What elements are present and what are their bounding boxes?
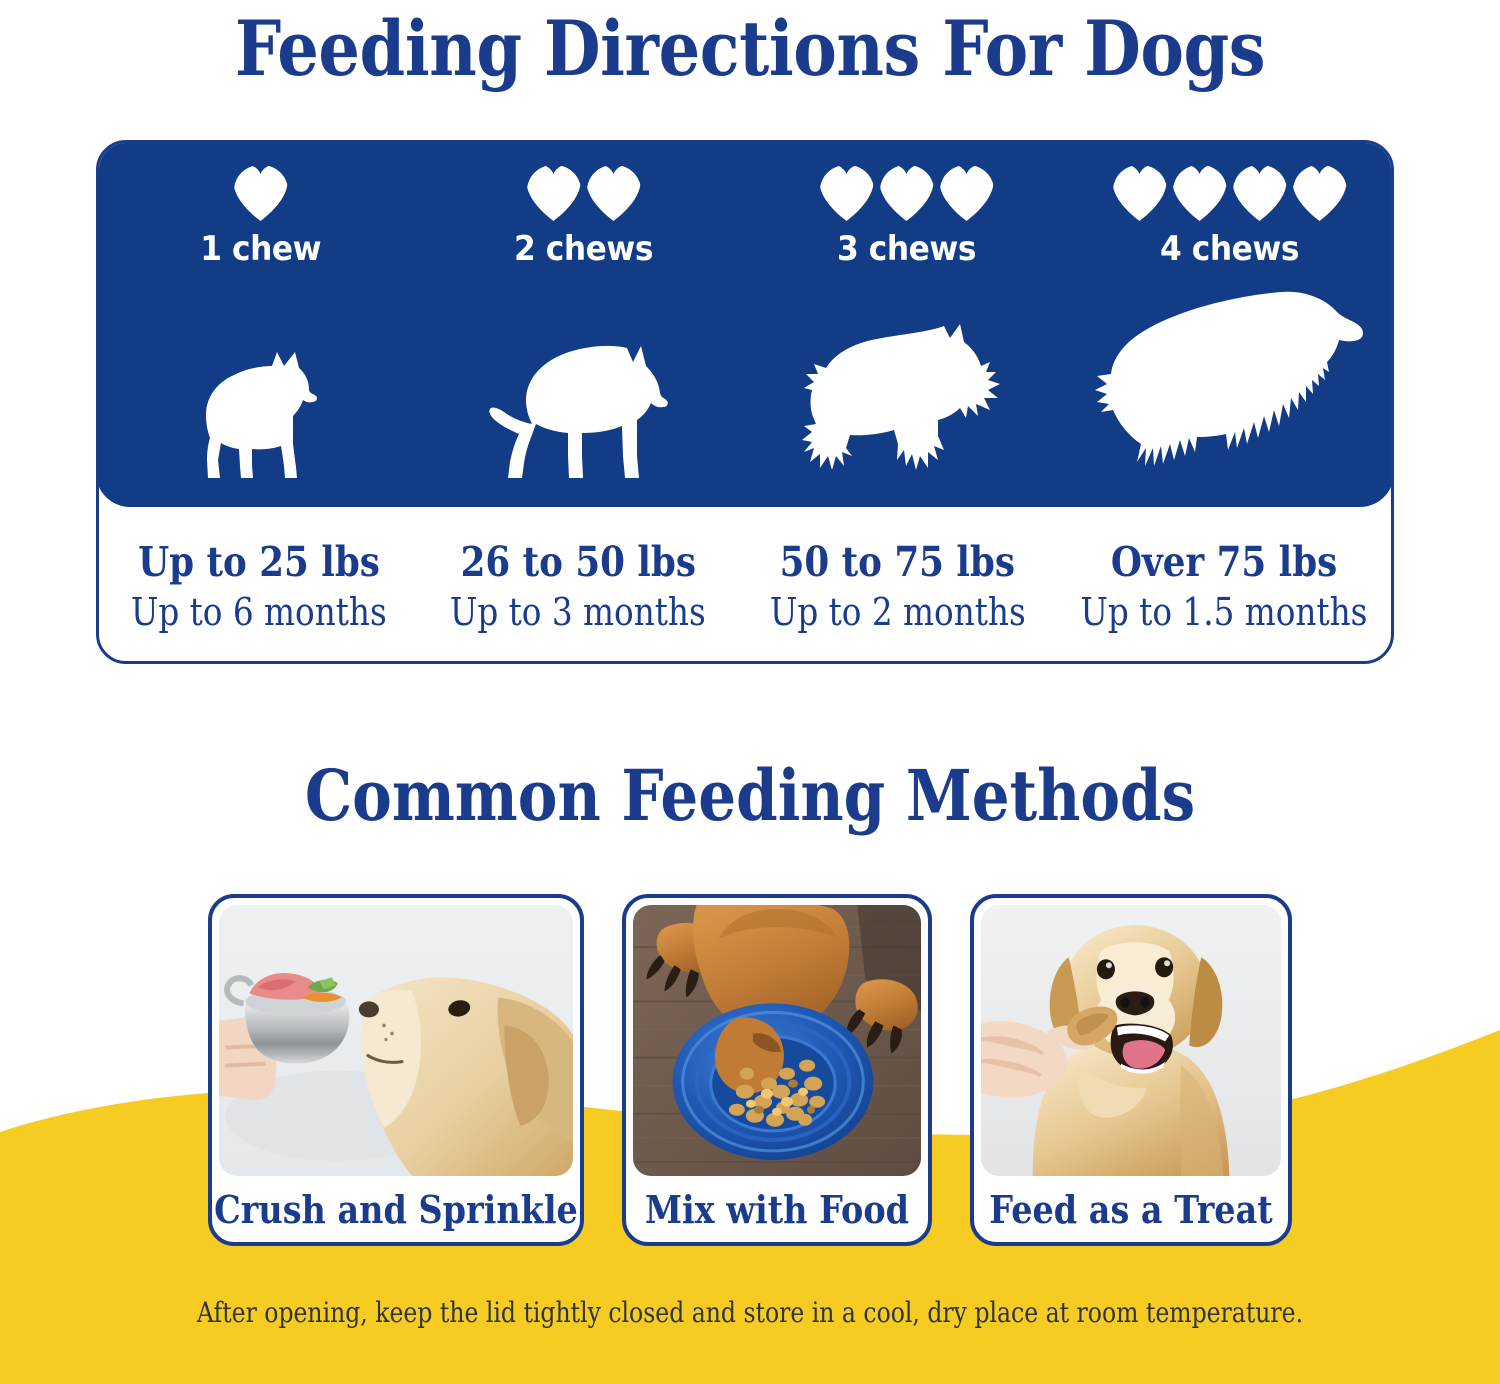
chew-icon [1293,165,1347,221]
method-label-crush-and-sprinkle: Crush and Sprinkle [234,1176,558,1242]
feeding-column-4: 4 chews [1068,143,1391,504]
photo-dog-eating-from-blue-bowl [633,905,921,1176]
dog-silhouette-3 [745,269,1068,504]
chew-icon [1113,165,1167,221]
dog-silhouette-1 [99,269,422,504]
duration-4: Up to 1.5 months [1081,590,1368,634]
boston-terrier-silhouette-icon [176,348,346,498]
chew-count-icons-3 [820,165,994,223]
duration-3: Up to 2 months [770,590,1026,634]
method-card-mix-with-food: Mix with Food [622,894,932,1246]
page-title: Feeding Directions For Dogs [105,4,1395,93]
weight-range-4: Over 75 lbs [1111,538,1337,586]
chew-icon [940,165,994,221]
chew-icon [820,165,874,221]
feeding-text-column-1: Up to 25 lbs Up to 6 months [99,510,418,661]
feeding-column-1: 1 chew [99,143,422,504]
method-photo-crush-and-sprinkle [219,905,573,1176]
duration-2: Up to 3 months [450,590,706,634]
feeding-chart-text-row: Up to 25 lbs Up to 6 months 26 to 50 lbs… [99,510,1391,661]
chew-count-label-2: 2 chews [514,229,653,269]
chew-icon [234,165,288,221]
chew-count-label-1: 1 chew [200,229,321,269]
method-card-feed-as-a-treat: Feed as a Treat [970,894,1292,1246]
method-card-crush-and-sprinkle: Crush and Sprinkle [208,894,584,1246]
photo-dog-sniffing-bowl [219,905,573,1176]
feeding-column-3: 3 chews [745,143,1068,504]
feeding-text-column-3: 50 to 75 lbs Up to 2 months [738,510,1057,661]
weight-range-3: 50 to 75 lbs [780,538,1015,586]
chew-icon [587,165,641,221]
feeding-column-2: 2 chews [422,143,745,504]
method-photo-mix-with-food [633,905,921,1176]
weight-range-1: Up to 25 lbs [138,538,380,586]
chew-count-label-3: 3 chews [837,229,976,269]
schnauzer-silhouette-icon [794,318,1020,498]
feeding-methods-row: Crush and Sprinkle [0,894,1500,1246]
chew-count-icons-1 [234,165,288,223]
chew-icon [880,165,934,221]
feeding-text-column-4: Over 75 lbs Up to 1.5 months [1057,510,1391,661]
feeding-text-column-2: 26 to 50 lbs Up to 3 months [418,510,737,661]
method-photo-feed-as-a-treat [981,905,1281,1176]
duration-1: Up to 6 months [131,590,387,634]
feeding-chart-card: 1 chew 2 chews [96,140,1394,664]
photo-hand-giving-treat-to-dog [981,905,1281,1176]
chew-icon [527,165,581,221]
chew-count-icons-4 [1113,165,1347,223]
dog-silhouette-4 [1068,269,1391,504]
feeding-chart-icon-row: 1 chew 2 chews [99,143,1391,504]
feeding-directions-infographic: Feeding Directions For Dogs 1 chew [0,0,1500,1384]
chew-icon [1173,165,1227,221]
storage-note: After opening, keep the lid tightly clos… [120,1296,1380,1329]
method-label-feed-as-a-treat: Feed as a Treat [993,1176,1269,1242]
chew-icon [1233,165,1287,221]
golden-retriever-silhouette-icon [1085,286,1375,498]
method-label-mix-with-food: Mix with Food [644,1176,910,1242]
weight-range-2: 26 to 50 lbs [460,538,695,586]
chew-count-icons-2 [527,165,641,223]
chew-count-label-4: 4 chews [1160,229,1299,269]
dog-silhouette-2 [422,269,745,504]
pit-bull-terrier-silhouette-icon [484,338,684,498]
methods-section-title: Common Feeding Methods [113,754,1388,837]
